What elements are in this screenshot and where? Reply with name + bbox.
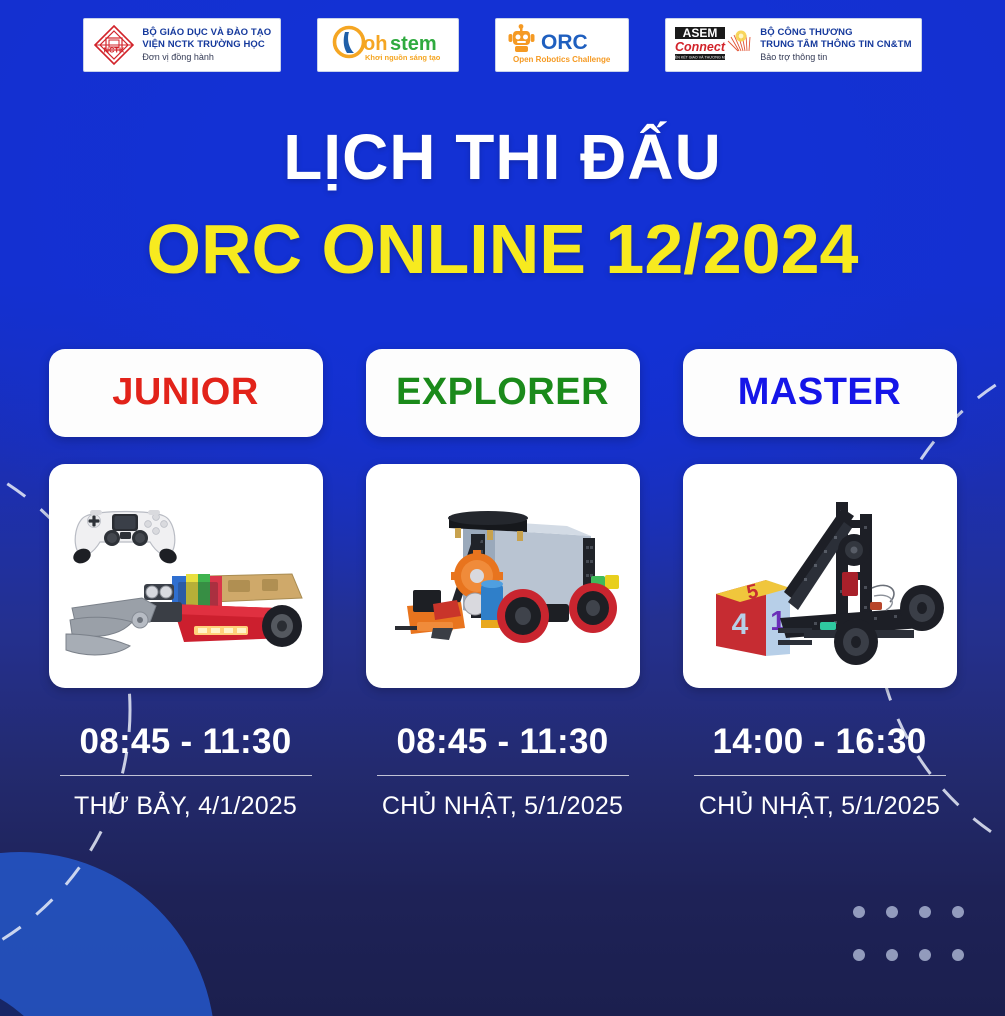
divider-rule [60, 775, 312, 777]
decor-dot [919, 906, 931, 918]
decor-dot [853, 949, 865, 961]
svg-text:ORC: ORC [541, 31, 588, 54]
svg-text:Open Robotics Challenge: Open Robotics Challenge [513, 55, 611, 64]
decor-dot [952, 906, 964, 918]
time-range-junior: 08:45 - 11:30 [49, 722, 323, 762]
cube-stacking-robot-photo-icon: 4 1 5 [694, 476, 946, 676]
divider-rule [694, 775, 946, 777]
svg-text:LIÊN KẾT GIAO VÀ THƯƠNG MẠI: LIÊN KẾT GIAO VÀ THƯƠNG MẠI [675, 55, 728, 60]
schedule-column-master: MASTER 4 1 5 [683, 349, 957, 822]
ohstem-logo-icon: oh stem Khơi nguồn sáng tạo [332, 25, 444, 65]
category-chip-explorer[interactable]: EXPLORER [366, 349, 640, 437]
svg-text:4: 4 [731, 608, 748, 641]
svg-text:stem: stem [390, 33, 437, 55]
date-master: CHỦ NHẬT, 5/1/2025 [683, 792, 957, 821]
decor-dot [886, 949, 898, 961]
category-chip-master[interactable]: MASTER [683, 349, 957, 437]
poster-canvas: NCTK BỘ GIÁO DỤC VÀ ĐÀO TẠO VIỆN NCTK TR… [0, 0, 1005, 1016]
decorative-dot-grid [853, 906, 985, 992]
sponsor-line-1: BỘ GIÁO DỤC VÀ ĐÀO TẠO [142, 27, 271, 39]
decor-dot [952, 949, 964, 961]
date-junior: THỨ BẢY, 4/1/2025 [49, 792, 323, 821]
sponsor-logo-bar: NCTK BỘ GIÁO DỤC VÀ ĐÀO TẠO VIỆN NCTK TR… [0, 0, 1005, 82]
decorative-circle [0, 852, 215, 1016]
decor-dot [886, 906, 898, 918]
svg-text:NCTK: NCTK [104, 46, 125, 55]
sponsor-asem-connect: ASEM Connect LIÊN KẾT GIAO VÀ THƯƠNG MẠI… [665, 18, 921, 72]
nctk-diamond-logo-icon: NCTK [93, 24, 135, 66]
photo-card-master: 4 1 5 [683, 464, 957, 688]
decor-dot [919, 949, 931, 961]
schedule-column-explorer: EXPLORER [366, 349, 640, 822]
sponsor-line-3: Đơn vị đồng hành [142, 52, 271, 63]
svg-text:Connect: Connect [675, 40, 726, 54]
decor-dot [853, 906, 865, 918]
sponsor-asem-text: BỘ CÔNG THƯƠNG TRUNG TÂM THÔNG TIN CN&TM… [760, 27, 911, 62]
page-subtitle: ORC ONLINE 12/2024 [0, 213, 1005, 287]
sponsor-orc: ORC Open Robotics Challenge [495, 18, 629, 72]
photo-card-explorer [366, 464, 640, 688]
date-explorer: CHỦ NHẬT, 5/1/2025 [366, 792, 640, 821]
divider-rule [377, 775, 629, 777]
category-chip-junior[interactable]: JUNIOR [49, 349, 323, 437]
sponsor-ohstem: oh stem Khơi nguồn sáng tạo [317, 18, 459, 72]
schedule-column-junior: JUNIOR [49, 349, 323, 822]
sponsor-line-3: Bảo trợ thông tin [760, 52, 911, 63]
svg-text:oh: oh [363, 33, 387, 55]
category-label: EXPLORER [396, 371, 609, 414]
sponsor-line-2: TRUNG TÂM THÔNG TIN CN&TM [760, 39, 911, 51]
category-label: MASTER [738, 371, 901, 414]
schedule-columns: JUNIOR [0, 349, 1005, 822]
decorative-circle-inner [0, 975, 80, 1016]
cargo-lift-robot-photo-icon [377, 476, 629, 676]
orc-robot-logo-icon: ORC Open Robotics Challenge [508, 24, 616, 66]
photo-card-junior [49, 464, 323, 688]
title-block: LỊCH THI ĐẤU ORC ONLINE 12/2024 [0, 124, 1005, 287]
category-label: JUNIOR [112, 371, 259, 414]
sponsor-line-2: VIỆN NCTK TRƯỜNG HỌC [142, 39, 271, 51]
sponsor-nctk: NCTK BỘ GIÁO DỤC VÀ ĐÀO TẠO VIỆN NCTK TR… [83, 18, 281, 72]
svg-text:Khơi nguồn sáng tạo: Khơi nguồn sáng tạo [365, 53, 441, 62]
sponsor-nctk-text: BỘ GIÁO DỤC VÀ ĐÀO TẠO VIỆN NCTK TRƯỜNG … [142, 27, 271, 62]
sponsor-line-1: BỘ CÔNG THƯƠNG [760, 27, 911, 39]
page-title: LỊCH THI ĐẤU [0, 124, 1005, 191]
svg-text:ASEM: ASEM [683, 26, 718, 40]
time-range-master: 14:00 - 16:30 [683, 722, 957, 762]
gamepad-and-gripper-robot-photo-icon [60, 476, 312, 676]
asem-connect-logo-icon: ASEM Connect LIÊN KẾT GIAO VÀ THƯƠNG MẠI [675, 23, 753, 67]
time-range-explorer: 08:45 - 11:30 [366, 722, 640, 762]
